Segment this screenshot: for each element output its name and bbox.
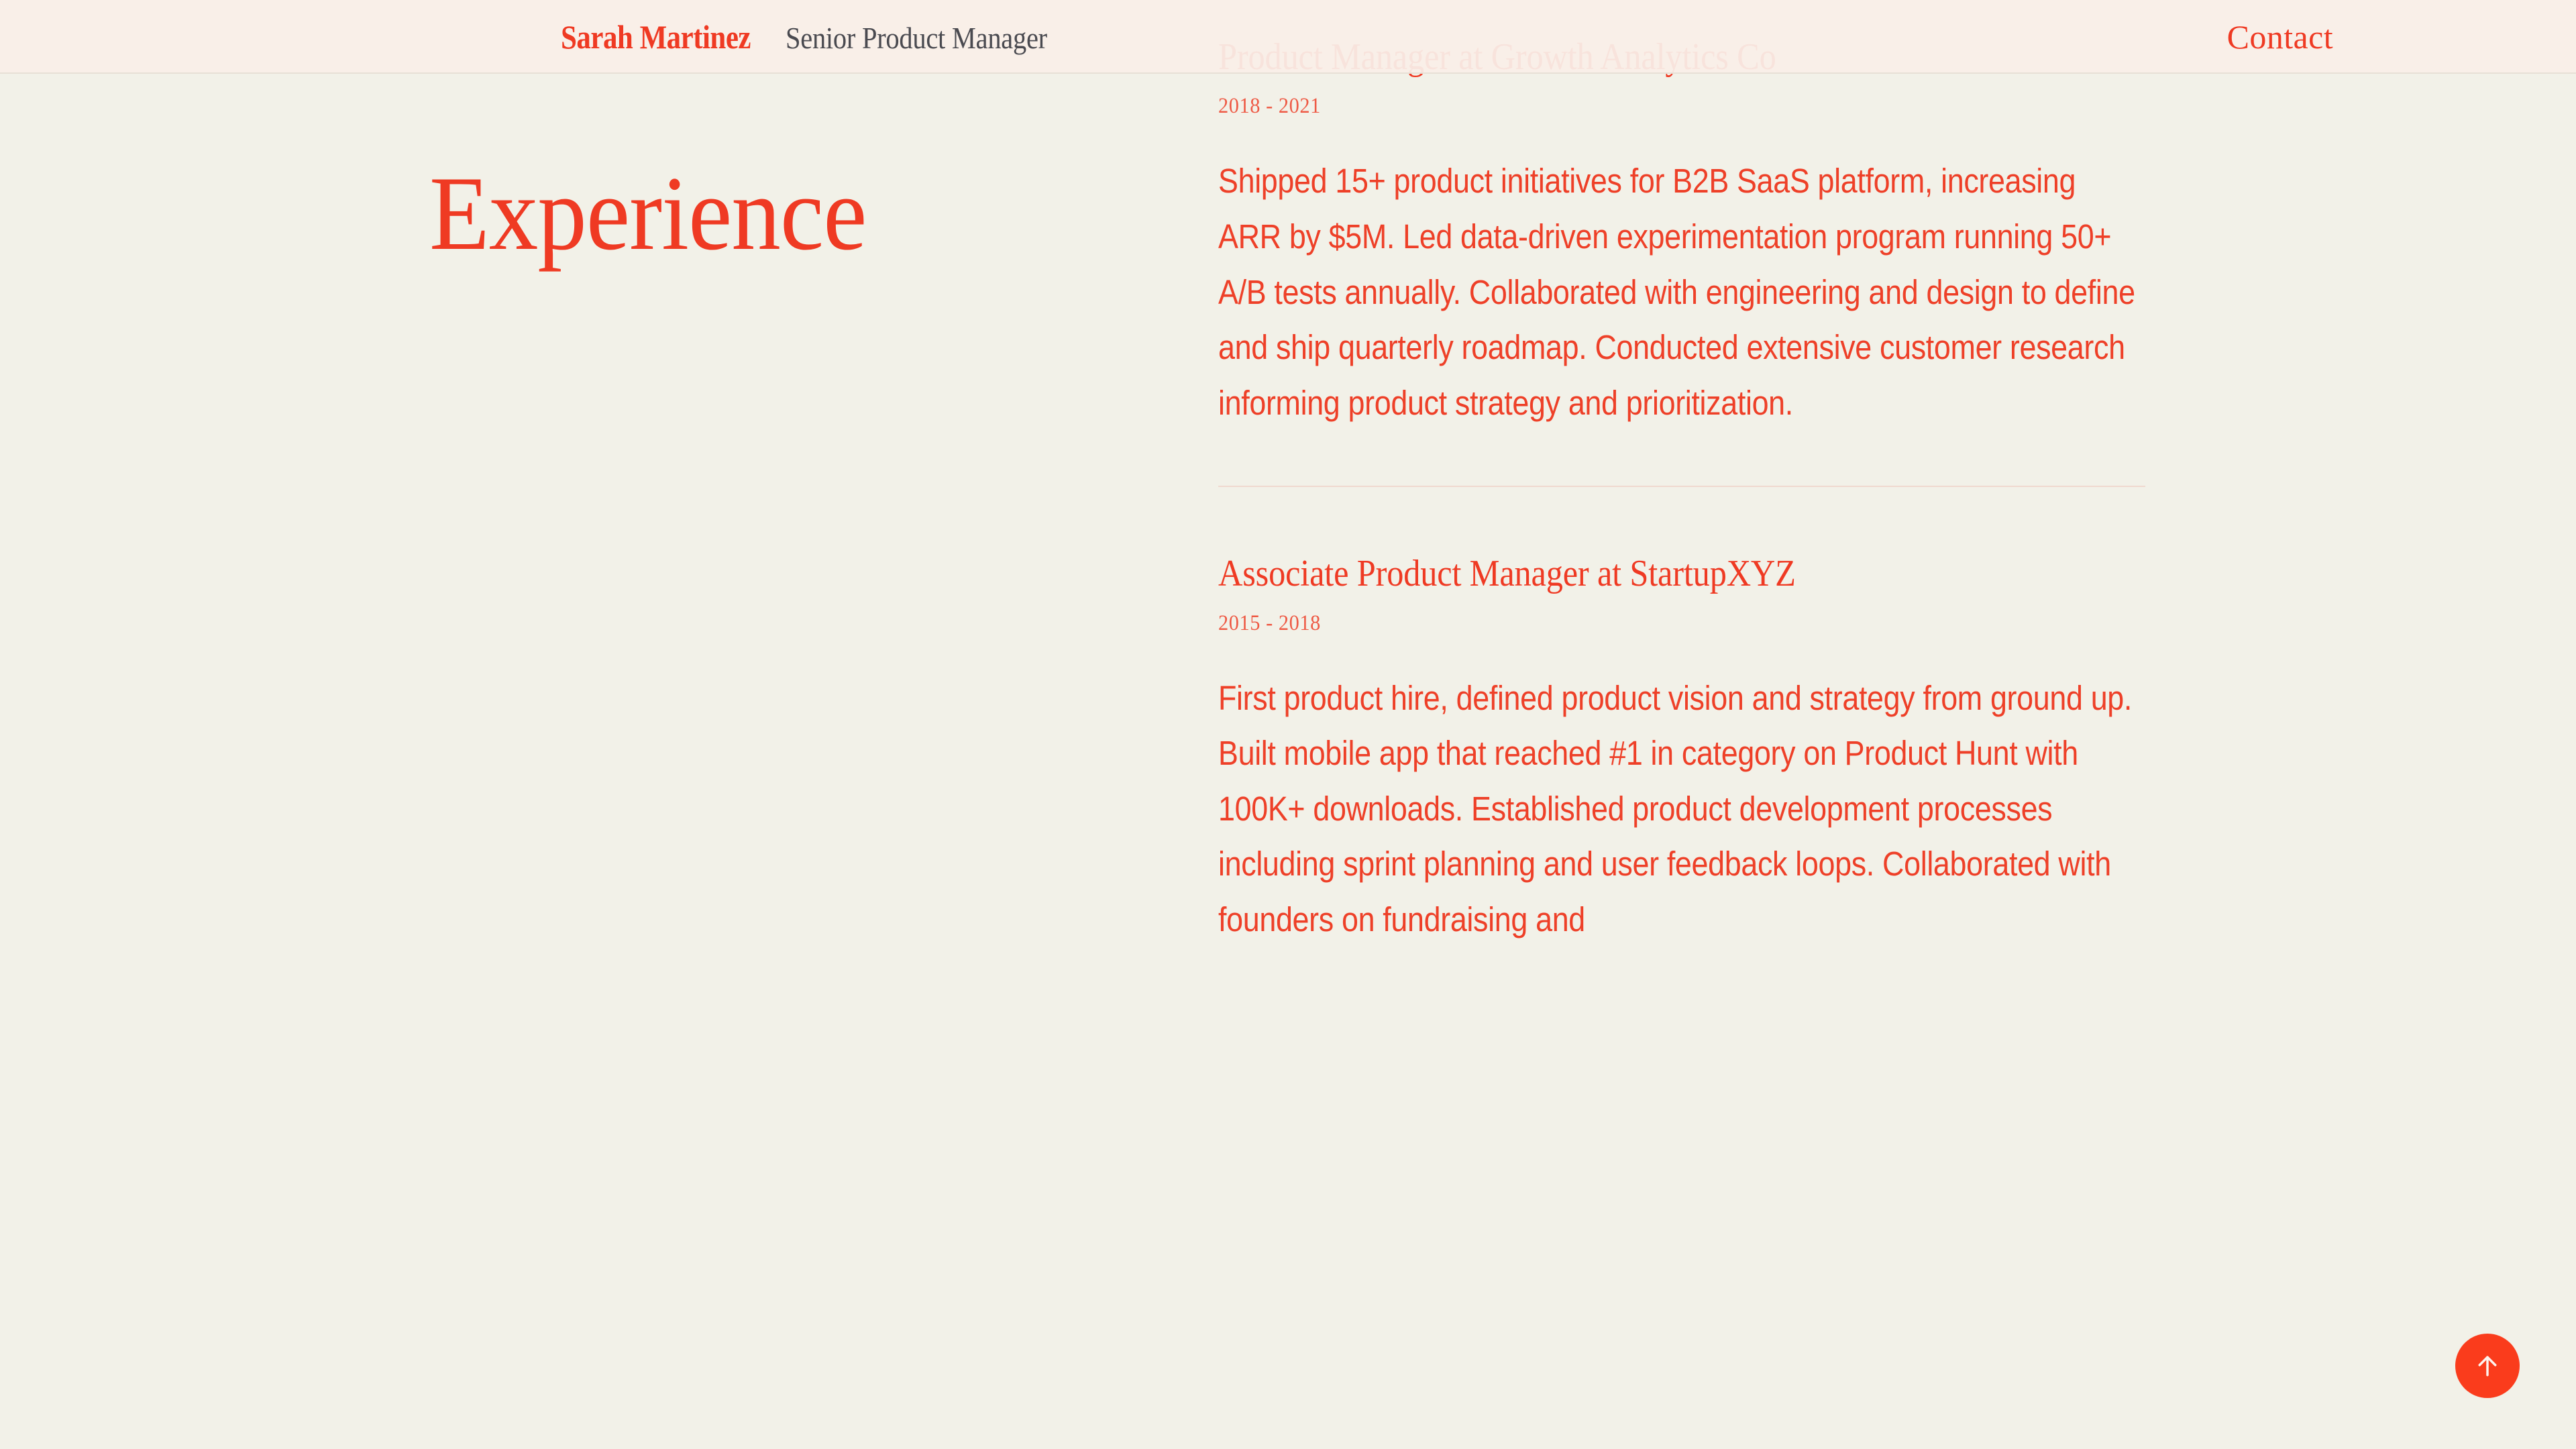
site-header: Sarah Martinez Senior Product Manager Co… bbox=[0, 0, 2576, 74]
job-title: Associate Product Manager at StartupXYZ bbox=[1218, 551, 2054, 596]
job-description: First product hire, defined product visi… bbox=[1218, 671, 2141, 948]
job-dates: 2015 - 2018 bbox=[1218, 611, 2072, 636]
brand-role: Senior Product Manager bbox=[786, 20, 1047, 56]
experience-list: Senior Product Manager at TechCorp 2021 … bbox=[1218, 0, 2147, 948]
experience-entry: Associate Product Manager at StartupXYZ … bbox=[1218, 551, 2147, 947]
experience-heading-column: Experience bbox=[429, 161, 1167, 267]
job-description: Shipped 15+ product initiatives for B2B … bbox=[1218, 154, 2141, 431]
experience-entry: Product Manager at Growth Analytics Co 2… bbox=[1218, 35, 2147, 431]
job-dates: 2018 - 2021 bbox=[1218, 94, 2072, 119]
page-title: Experience bbox=[429, 161, 1116, 267]
brand[interactable]: Sarah Martinez Senior Product Manager bbox=[561, 17, 1083, 56]
page-root: Experience Senior Product Manager at Tec… bbox=[0, 0, 2576, 1449]
brand-name: Sarah Martinez bbox=[561, 17, 751, 56]
nav-link-contact[interactable]: Contact bbox=[2227, 17, 2333, 56]
arrow-up-icon bbox=[2473, 1351, 2502, 1381]
section-divider bbox=[1218, 486, 2145, 487]
header-inner: Sarah Martinez Senior Product Manager Co… bbox=[0, 0, 2576, 74]
scroll-to-top-button[interactable] bbox=[2455, 1334, 2520, 1398]
